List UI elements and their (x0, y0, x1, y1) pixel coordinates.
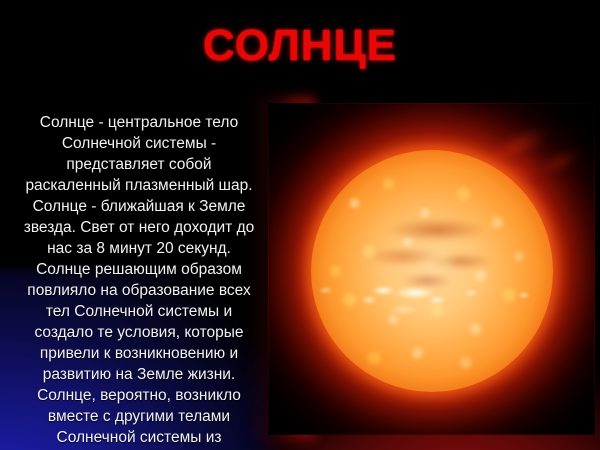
body-line: Солнце решающим образом (8, 259, 270, 280)
body-line: развитию на Земле жизни. (8, 364, 270, 385)
body-line: Солнце, вероятно, возникло (8, 385, 270, 406)
body-line: создало те условия, которые (8, 322, 270, 343)
photo-vignette (268, 103, 595, 435)
body-line: Солнечной системы - (8, 133, 270, 154)
presentation-slide: СОЛНЦЕ Солнце - центральное тело Солнечн… (0, 0, 600, 450)
body-line: звезда. Свет от него доходит до (8, 217, 270, 238)
body-line: вместе с другими телами (8, 406, 270, 427)
body-line: тел Солнечной системы и (8, 301, 270, 322)
body-line: привели к возникновению и (8, 343, 270, 364)
body-line: раскаленный плазменный шар. (8, 175, 270, 196)
body-line: Солнце - ближайшая к Земле (8, 196, 270, 217)
body-line: повлияло на образование всех (8, 280, 270, 301)
body-line: нас за 8 минут 20 секунд. (8, 238, 270, 259)
sun-photo (268, 103, 595, 435)
body-line: Солнечной системы из (8, 427, 270, 448)
body-line: представляет собой (8, 154, 270, 175)
body-line: Солнце - центральное тело (8, 112, 270, 133)
slide-title: СОЛНЦЕ (0, 24, 600, 68)
slide-body-text: Солнце - центральное тело Солнечной сист… (8, 112, 270, 450)
